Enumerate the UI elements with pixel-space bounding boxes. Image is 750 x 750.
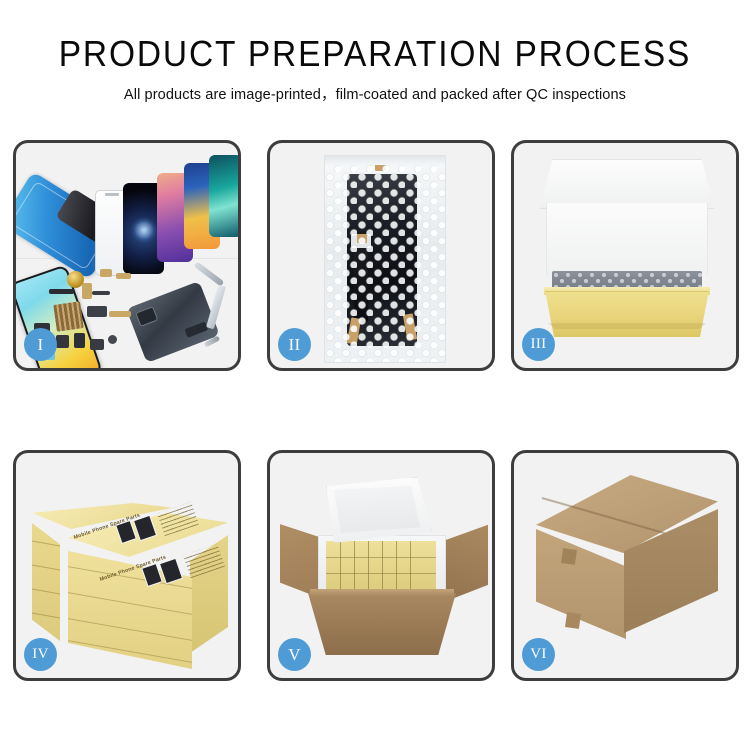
flex-cable-part [49,289,74,294]
step-badge-2: II [278,328,311,361]
step-badge-1: I [24,328,57,361]
step-badge-6: VI [522,638,555,671]
camera-lens-part [108,335,117,344]
carton-tape-patch [561,548,577,565]
gold-contact-part [109,311,131,317]
process-step-grid: I II [13,140,737,681]
step-badge-4: IV [24,638,57,671]
step-panel-phone-parts: I [13,140,241,371]
gold-contact-part [100,269,112,277]
box-lid [534,159,720,209]
step-panel-bubble-wrap: II [267,140,495,371]
teal-gradient-phone-icon [209,155,241,237]
small-module-part [87,306,107,317]
step-badge-3: III [522,328,555,361]
bag-seal [325,156,445,165]
connector-grid-icon [53,301,83,331]
page-title: PRODUCT PREPARATION PROCESS [26,34,724,74]
step-panel-foam-carton: V [267,450,495,681]
kraft-box-front [538,291,716,337]
step-panel-sealed-carton: VI [511,450,739,681]
box-inner-wall [546,203,708,275]
step-panel-inner-box: III [511,140,739,371]
small-module-part [90,339,104,350]
bubble-wrap-bag [324,155,446,363]
carton-front-face [308,593,456,655]
back-stack-seams [32,523,60,641]
kraft-boxes-inside [326,541,436,589]
header: PRODUCT PREPARATION PROCESS All products… [0,34,750,104]
small-module-part [56,335,69,348]
box-stack: Mobile Phone Spare Parts Mobile Phone Sp… [32,475,228,659]
carton-rim [310,589,454,597]
page-subtitle: All products are image-printed，film-coat… [11,83,739,104]
bubble-texture [325,156,445,362]
step-badge-5: V [278,638,311,671]
gold-contact-part [116,273,131,279]
carton-tape-patch [565,612,581,629]
product-preparation-infographic: PRODUCT PREPARATION PROCESS All products… [0,0,750,750]
phone-back-housing-icon [126,281,220,363]
box-front-edge [545,323,709,329]
gold-contact-part [82,283,92,299]
flex-cable-part [92,291,110,295]
foam-lid-inner [332,485,422,533]
step-panel-stacked-boxes: Mobile Phone Spare Parts Mobile Phone Sp… [13,450,241,681]
small-module-part [74,333,85,348]
